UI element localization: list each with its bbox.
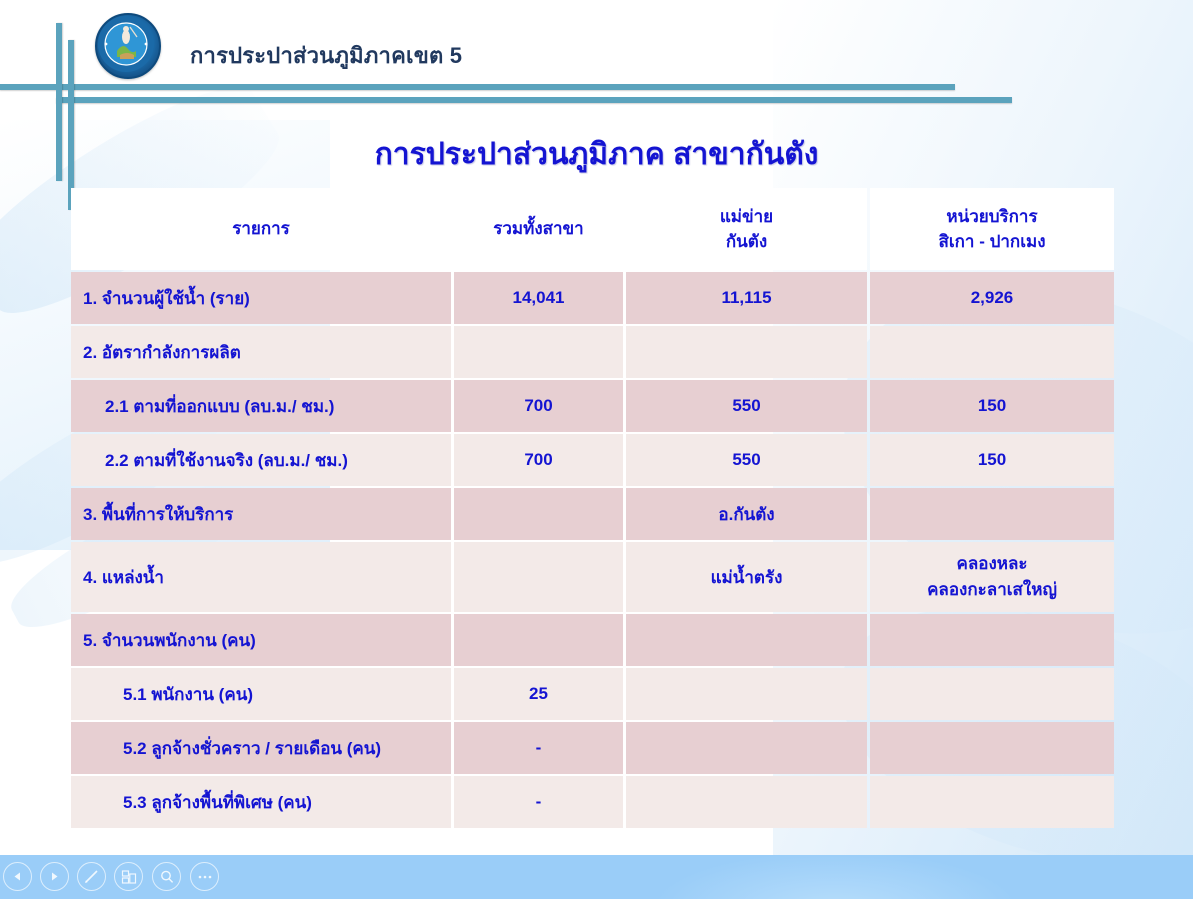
zoom-button[interactable]	[152, 862, 181, 891]
table-row: 5.2 ลูกจ้างชั่วคราว / รายเดือน (คน) -	[71, 722, 1114, 774]
column-header-unit-label: หน่วยบริการ	[870, 204, 1114, 230]
table-row: 2.1 ตามที่ออกแบบ (ลบ.ม./ ชม.) 700 550 15…	[71, 380, 1114, 432]
table-header-row: รายการ รวมทั้งสาขา แม่ข่าย กันตัง หน่วยบ…	[71, 188, 1114, 270]
table-row: 1. จำนวนผู้ใช้น้ำ (ราย) 14,041 11,115 2,…	[71, 272, 1114, 324]
column-header-item-label: รายการ	[71, 216, 451, 242]
row-unit-value	[870, 614, 1114, 666]
row-main-value	[626, 614, 867, 666]
column-header-main: แม่ข่าย กันตัง	[626, 188, 867, 270]
row-main-value: อ.กันตัง	[626, 488, 867, 540]
row-total-value: 700	[454, 380, 623, 432]
row-unit-value-line1: คลองหละ	[870, 551, 1114, 577]
column-header-main-sublabel: กันตัง	[626, 229, 867, 255]
triangle-right-icon	[48, 870, 61, 883]
accent-line-vertical-right	[68, 40, 74, 210]
row-item-label: 2. อัตรากำลังการผลิต	[71, 326, 451, 378]
row-item-label: 2.1 ตามที่ออกแบบ (ลบ.ม./ ชม.)	[71, 380, 451, 432]
row-item-label: 5.3 ลูกจ้างพื้นที่พิเศษ (คน)	[71, 776, 451, 828]
slide-header: การประปาส่วนภูมิภาคเขต 5	[0, 0, 1193, 100]
row-unit-value	[870, 326, 1114, 378]
row-main-value	[626, 776, 867, 828]
row-item-label: 5.1 พนักงาน (คน)	[71, 668, 451, 720]
row-main-value	[626, 668, 867, 720]
row-total-value	[454, 326, 623, 378]
row-unit-value	[870, 668, 1114, 720]
row-total-value: 25	[454, 668, 623, 720]
column-header-total: รวมทั้งสาขา	[454, 188, 623, 270]
table-row: 2.2 ตามที่ใช้งานจริง (ลบ.ม./ ชม.) 700 55…	[71, 434, 1114, 486]
column-header-item: รายการ	[71, 188, 451, 270]
row-item-label: 4. แหล่งน้ำ	[71, 542, 451, 612]
more-options-button[interactable]	[190, 862, 219, 891]
row-total-value: 700	[454, 434, 623, 486]
ellipsis-icon	[197, 874, 213, 880]
row-unit-value-line2: คลองกะลาเสใหญ่	[870, 577, 1114, 603]
table-row: 5. จำนวนพนักงาน (คน)	[71, 614, 1114, 666]
table-row: 3. พื้นที่การให้บริการ อ.กันตัง	[71, 488, 1114, 540]
previous-slide-button[interactable]	[3, 862, 32, 891]
row-total-value	[454, 488, 623, 540]
row-item-label: 2.2 ตามที่ใช้งานจริง (ลบ.ม./ ชม.)	[71, 434, 451, 486]
table-row: 5.3 ลูกจ้างพื้นที่พิเศษ (คน) -	[71, 776, 1114, 828]
row-unit-value: 150	[870, 434, 1114, 486]
row-unit-value: คลองหละ คลองกะลาเสใหญ่	[870, 542, 1114, 612]
row-total-value: -	[454, 776, 623, 828]
pen-icon	[83, 868, 100, 885]
row-item-label: 5. จำนวนพนักงาน (คน)	[71, 614, 451, 666]
row-main-value	[626, 722, 867, 774]
row-main-value: 550	[626, 434, 867, 486]
row-unit-value	[870, 722, 1114, 774]
presentation-slide: การประปาส่วนภูมิภาคเขต 5 การประปาส่วนภูม…	[0, 0, 1193, 855]
table-row: 4. แหล่งน้ำ แม่น้ำตรัง คลองหละ คลองกะลาเ…	[71, 542, 1114, 612]
pwa-emblem-icon	[95, 13, 161, 79]
row-unit-value	[870, 488, 1114, 540]
row-item-label: 1. จำนวนผู้ใช้น้ำ (ราย)	[71, 272, 451, 324]
header-title: การประปาส่วนภูมิภาคเขต 5	[190, 38, 462, 73]
row-item-label: 5.2 ลูกจ้างชั่วคราว / รายเดือน (คน)	[71, 722, 451, 774]
row-main-value: 550	[626, 380, 867, 432]
row-unit-value: 150	[870, 380, 1114, 432]
triangle-left-icon	[11, 870, 24, 883]
column-header-total-label: รวมทั้งสาขา	[454, 216, 623, 242]
column-header-main-label: แม่ข่าย	[626, 204, 867, 230]
accent-line-top	[0, 84, 955, 90]
table-row: 2. อัตรากำลังการผลิต	[71, 326, 1114, 378]
branch-info-table: รายการ รวมทั้งสาขา แม่ข่าย กันตัง หน่วยบ…	[68, 186, 1117, 830]
slide-menu-button[interactable]	[114, 862, 143, 891]
row-total-value: 14,041	[454, 272, 623, 324]
row-total-value	[454, 542, 623, 612]
presentation-toolbar	[0, 855, 1193, 899]
row-main-value	[626, 326, 867, 378]
row-main-value: 11,115	[626, 272, 867, 324]
column-header-unit: หน่วยบริการ สิเกา - ปากเมง	[870, 188, 1114, 270]
page-title: การประปาส่วนภูมิภาค สาขากันตัง	[0, 131, 1193, 178]
row-main-value: แม่น้ำตรัง	[626, 542, 867, 612]
slides-grid-icon	[121, 869, 137, 885]
row-total-value	[454, 614, 623, 666]
row-total-value: -	[454, 722, 623, 774]
column-header-unit-sublabel: สิเกา - ปากเมง	[870, 229, 1114, 255]
magnifier-icon	[159, 869, 175, 885]
next-slide-button[interactable]	[40, 862, 69, 891]
row-unit-value	[870, 776, 1114, 828]
pen-tool-button[interactable]	[77, 862, 106, 891]
table-row: 5.1 พนักงาน (คน) 25	[71, 668, 1114, 720]
row-item-label: 3. พื้นที่การให้บริการ	[71, 488, 451, 540]
accent-line-bottom	[56, 97, 1012, 103]
row-unit-value: 2,926	[870, 272, 1114, 324]
